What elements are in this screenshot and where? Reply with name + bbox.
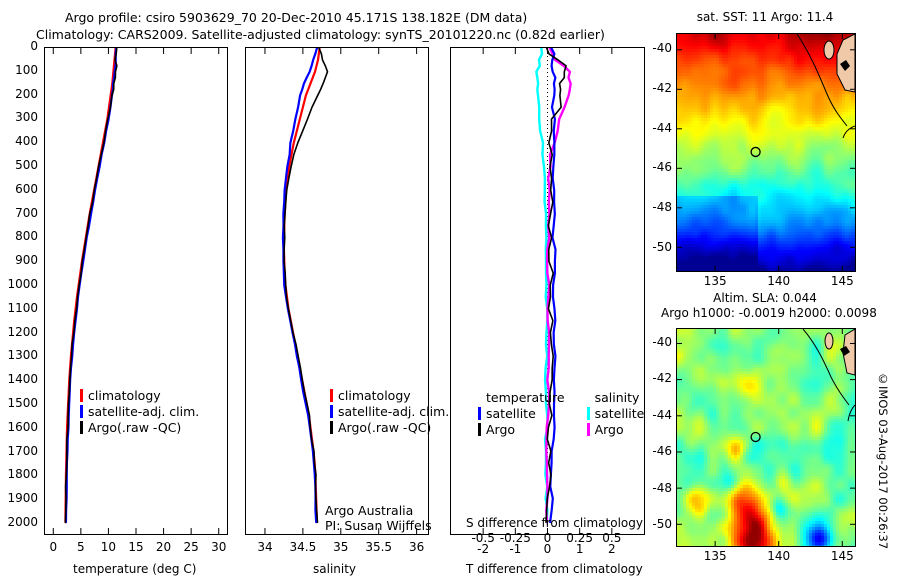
pi-label: PI: Susan Wijffels xyxy=(325,518,432,533)
legend-color-swatch xyxy=(478,423,481,436)
legend-label: Argo xyxy=(595,422,624,437)
legend-group-header: salinity xyxy=(595,390,645,406)
tdiff-xtick-2: 2 xyxy=(597,542,627,556)
depth-tick-1500: 1500 xyxy=(0,396,38,410)
difference-profile-curves xyxy=(451,48,644,534)
legend-color-swatch xyxy=(478,407,481,420)
temp-xtick-15: 15 xyxy=(122,540,150,554)
legend-color-swatch xyxy=(80,389,83,402)
depth-tick-600: 600 xyxy=(0,182,38,196)
sla-map-field xyxy=(677,329,855,546)
sla-lon-135: 135 xyxy=(697,549,733,563)
difference-salinity-axis-label: S difference from climatology xyxy=(466,516,643,530)
sst-lat--40: -40 xyxy=(628,41,672,55)
depth-tick-100: 100 xyxy=(0,63,38,77)
temperature-profile-curves xyxy=(45,48,227,534)
temperature-legend-item: satellite-adj. clim. xyxy=(80,404,199,420)
sst-lat--46: -46 xyxy=(628,160,672,174)
institution-label: Argo Australia xyxy=(325,503,413,518)
temperature-legend: climatologysatellite-adj. clim.Argo(.raw… xyxy=(80,388,199,436)
sla-map-title-line-1: Altim. SLA: 0.044 xyxy=(670,291,860,305)
sst-lat--48: -48 xyxy=(628,200,672,214)
depth-tick-1100: 1100 xyxy=(0,301,38,315)
sla-lat--46: -46 xyxy=(628,444,672,458)
sst-lon-145: 145 xyxy=(824,274,860,288)
sst-map-field xyxy=(677,34,855,271)
sst-lon-140: 140 xyxy=(761,274,797,288)
legend-color-swatch xyxy=(330,389,333,402)
legend-color-swatch xyxy=(587,423,590,436)
depth-tick-700: 700 xyxy=(0,206,38,220)
tdiff-xtick--1: -1 xyxy=(500,542,530,556)
temperature-legend-item: climatology xyxy=(80,388,199,404)
sst-lat--50: -50 xyxy=(628,240,672,254)
salinity-legend-item: Argo(.raw -QC) xyxy=(330,420,449,436)
legend-label: Argo(.raw -QC) xyxy=(338,420,431,435)
temperature-plot-frame xyxy=(44,47,228,535)
sst-lat--44: -44 xyxy=(628,121,672,135)
temp-xtick-20: 20 xyxy=(150,540,178,554)
legend-label: satellite xyxy=(486,406,536,421)
difference-legend-item: Argo xyxy=(478,422,565,438)
legend-color-swatch xyxy=(330,421,333,434)
sla-lat--48: -48 xyxy=(628,481,672,495)
sla-lat--50: -50 xyxy=(628,517,672,531)
salinity-legend: climatologysatellite-adj. clim.Argo(.raw… xyxy=(330,388,449,436)
difference-temperature-axis-label: T difference from climatology xyxy=(466,562,643,576)
salinity-legend-item: climatology xyxy=(330,388,449,404)
legend-label: Argo xyxy=(486,422,515,437)
sla-map-frame xyxy=(676,328,856,547)
salinity-legend-item: satellite-adj. clim. xyxy=(330,404,449,420)
temp-xtick-5: 5 xyxy=(67,540,95,554)
legend-label: satellite-adj. clim. xyxy=(338,404,449,419)
header-line-2: Climatology: CARS2009. Satellite-adjuste… xyxy=(36,27,605,42)
salinity-plot-frame xyxy=(245,47,429,535)
depth-tick-1600: 1600 xyxy=(0,420,38,434)
legend-label: climatology xyxy=(338,388,411,403)
depth-tick-300: 300 xyxy=(0,110,38,124)
sla-map-title-line-2: Argo h1000: -0.0019 h2000: 0.0098 xyxy=(661,306,871,320)
legend-group-header: temperature xyxy=(486,390,565,406)
depth-tick-1800: 1800 xyxy=(0,467,38,481)
legend-color-swatch xyxy=(80,405,83,418)
temperature-axis-label: temperature (deg C) xyxy=(73,562,196,576)
depth-tick-2000: 2000 xyxy=(0,515,38,529)
sla-lon-145: 145 xyxy=(824,549,860,563)
difference-plot-frame xyxy=(450,47,645,535)
sla-lat--44: -44 xyxy=(628,408,672,422)
sal-xtick-34: 34 xyxy=(245,540,285,554)
depth-tick-400: 400 xyxy=(0,134,38,148)
sst-lat--42: -42 xyxy=(628,81,672,95)
sal-xtick-35.5: 35.5 xyxy=(359,540,399,554)
legend-color-swatch xyxy=(80,421,83,434)
sst-map-title: sat. SST: 11 Argo: 11.4 xyxy=(670,10,860,24)
depth-tick-1400: 1400 xyxy=(0,372,38,386)
sal-xtick-36: 36 xyxy=(397,540,437,554)
temp-xtick-25: 25 xyxy=(177,540,205,554)
tdiff-xtick-1: 1 xyxy=(565,542,595,556)
legend-color-swatch xyxy=(587,407,590,420)
sst-lon-135: 135 xyxy=(697,274,733,288)
legend-label: climatology xyxy=(88,388,161,403)
difference-legend-column: temperaturesatelliteArgo xyxy=(478,390,565,438)
depth-tick-1000: 1000 xyxy=(0,277,38,291)
depth-tick-200: 200 xyxy=(0,87,38,101)
difference-legend: temperaturesatelliteArgosalinitysatellit… xyxy=(478,390,644,438)
tdiff-xtick-0: 0 xyxy=(533,542,563,556)
sal-xtick-35: 35 xyxy=(321,540,361,554)
depth-tick-1900: 1900 xyxy=(0,491,38,505)
temp-xtick-30: 30 xyxy=(205,540,233,554)
depth-tick-900: 900 xyxy=(0,253,38,267)
sla-lat--42: -42 xyxy=(628,371,672,385)
legend-label: satellite-adj. clim. xyxy=(88,404,199,419)
sal-xtick-34.5: 34.5 xyxy=(283,540,323,554)
difference-legend-item: satellite xyxy=(478,406,565,422)
temperature-legend-item: Argo(.raw -QC) xyxy=(80,420,199,436)
sla-lat--40: -40 xyxy=(628,335,672,349)
sst-map-frame xyxy=(676,33,856,272)
legend-color-swatch xyxy=(330,405,333,418)
depth-tick-1300: 1300 xyxy=(0,348,38,362)
header-line-1: Argo profile: csiro 5903629_70 20-Dec-20… xyxy=(65,10,527,25)
temp-xtick-0: 0 xyxy=(39,540,67,554)
difference-legend-item: Argo xyxy=(587,422,645,438)
depth-tick-1700: 1700 xyxy=(0,444,38,458)
sla-lon-140: 140 xyxy=(761,549,797,563)
depth-tick-0: 0 xyxy=(0,39,38,53)
depth-tick-800: 800 xyxy=(0,229,38,243)
imos-credit: ©IMOS 03-Aug-2017 00:26:37 xyxy=(876,372,890,549)
legend-label: Argo(.raw -QC) xyxy=(88,420,181,435)
salinity-profile-curves xyxy=(246,48,428,534)
depth-tick-1200: 1200 xyxy=(0,325,38,339)
temp-xtick-10: 10 xyxy=(94,540,122,554)
tdiff-xtick--2: -2 xyxy=(468,542,498,556)
depth-tick-500: 500 xyxy=(0,158,38,172)
salinity-axis-label: salinity xyxy=(313,562,356,576)
